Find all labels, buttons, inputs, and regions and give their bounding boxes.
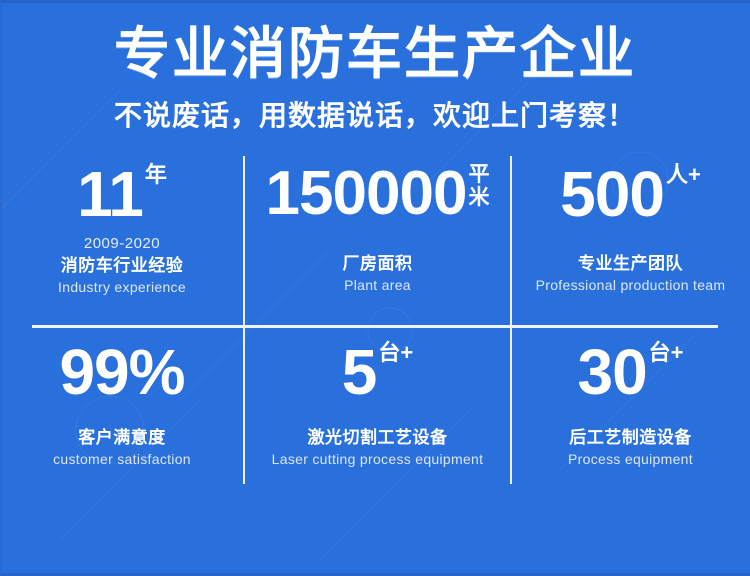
page-title: 专业消防车生产企业 xyxy=(0,22,750,86)
stat-number: 11 xyxy=(77,162,143,226)
stat-unit: 台+ xyxy=(649,342,684,364)
stat-label-en: Laser cutting process equipment xyxy=(272,450,484,469)
stat-value-row: 99% xyxy=(59,340,184,404)
stats-grid: 11 年 2009-2020 消防车行业经验 Industry experien… xyxy=(0,154,750,494)
stat-unit: 台+ xyxy=(378,342,413,364)
stat-number: 150000 xyxy=(266,162,467,226)
stat-label-en: Professional production team xyxy=(536,276,726,295)
divider-vertical-right xyxy=(510,156,512,484)
stat-unit: 人+ xyxy=(666,164,701,186)
stats-section: 11 年 2009-2020 消防车行业经验 Industry experien… xyxy=(0,154,750,494)
stat-label-en: Process equipment xyxy=(568,450,693,469)
stat-range: 2009-2020 xyxy=(84,234,160,253)
stat-label-cn: 激光切割工艺设备 xyxy=(308,426,448,449)
stat-cell-plant-area: 150000 平 米 厂房面积 Plant area xyxy=(244,154,511,324)
stat-label-cn: 专业生产团队 xyxy=(578,252,683,275)
stat-unit: 平 米 xyxy=(468,163,489,209)
stat-label-en: customer satisfaction xyxy=(53,450,191,469)
stat-value-row: 500 人+ xyxy=(560,162,701,226)
stat-number: 500 xyxy=(560,162,664,226)
stat-number: 5 xyxy=(342,340,377,404)
stat-label-cn: 后工艺制造设备 xyxy=(569,426,692,449)
stat-cell-customer-satisfaction: 99% 客户满意度 customer satisfaction xyxy=(0,324,244,494)
stat-cell-process-equipment: 30 台+ 后工艺制造设备 Process equipment xyxy=(511,324,750,494)
stat-value-row: 30 台+ xyxy=(577,340,683,404)
stat-value-row: 5 台+ xyxy=(342,340,413,404)
divider-horizontal xyxy=(32,325,718,328)
stat-number: 99% xyxy=(59,340,184,404)
promo-banner: 专业消防车生产企业 不说废话，用数据说话，欢迎上门考察！ 11 年 2009-2… xyxy=(0,0,750,576)
banner-header: 专业消防车生产企业 不说废话，用数据说话，欢迎上门考察！ xyxy=(0,0,750,136)
stat-value-row: 11 年 xyxy=(77,162,167,226)
stat-cell-industry-experience: 11 年 2009-2020 消防车行业经验 Industry experien… xyxy=(0,154,244,324)
stat-unit: 年 xyxy=(145,164,167,186)
stat-unit-line-2: 米 xyxy=(468,186,489,209)
stat-label-cn: 厂房面积 xyxy=(343,252,413,275)
page-subtitle: 不说废话，用数据说话，欢迎上门考察！ xyxy=(0,96,750,136)
stat-unit-line-1: 平 xyxy=(468,163,489,186)
stat-label-en: Plant area xyxy=(344,276,411,295)
divider-vertical-left xyxy=(243,156,245,484)
stat-label-cn: 客户满意度 xyxy=(78,426,166,449)
stat-value-row: 150000 平 米 xyxy=(266,162,490,226)
stat-number: 30 xyxy=(577,340,646,404)
stat-label-cn: 消防车行业经验 xyxy=(61,254,184,277)
stat-cell-production-team: 500 人+ 专业生产团队 Professional production te… xyxy=(511,154,750,324)
stat-cell-laser-cutting-equipment: 5 台+ 激光切割工艺设备 Laser cutting process equi… xyxy=(244,324,511,494)
stat-label-en: Industry experience xyxy=(58,278,186,297)
